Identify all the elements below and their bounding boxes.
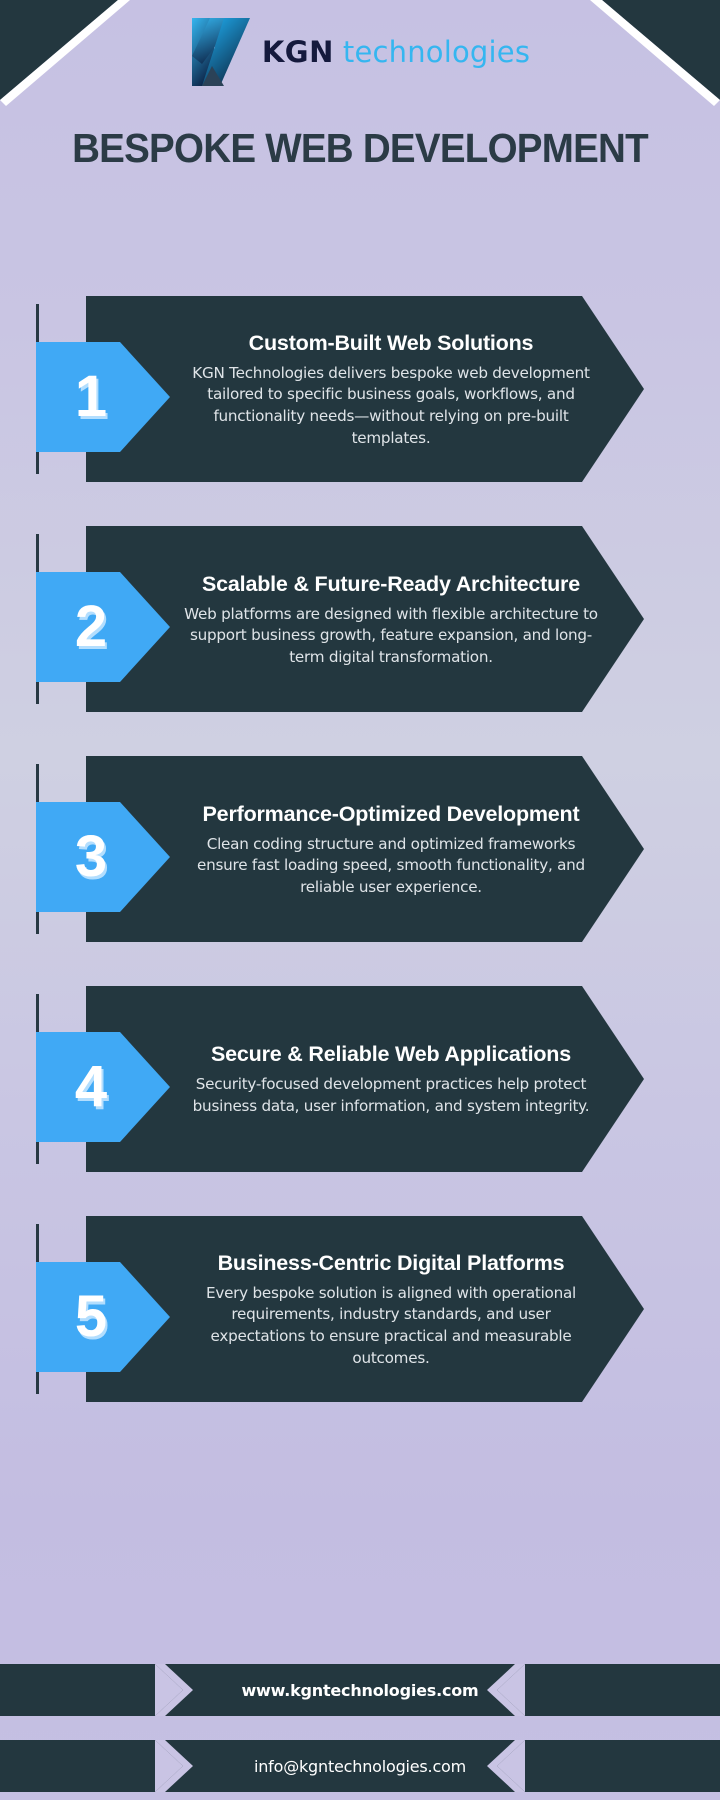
list-item: Secure & Reliable Web Applications Secur… <box>0 986 720 1172</box>
card-title: Secure & Reliable Web Applications <box>211 1042 571 1067</box>
card-number: 2 <box>36 572 146 682</box>
list-item: Scalable & Future-Ready Architecture Web… <box>0 526 720 712</box>
page-title: BESPOKE WEB DEVELOPMENT <box>22 125 699 172</box>
footer: www.kgntechnologies.com info@kgntechnolo… <box>0 1656 720 1800</box>
card-number: 1 <box>36 342 146 452</box>
footer-website[interactable]: www.kgntechnologies.com <box>0 1664 720 1716</box>
brand-name-bold: KGN <box>262 35 334 69</box>
card-title: Performance-Optimized Development <box>203 802 580 827</box>
steps-list: Custom-Built Web Solutions KGN Technolog… <box>0 296 720 1446</box>
card-content: Scalable & Future-Ready Architecture Web… <box>86 526 644 712</box>
card-content: Performance-Optimized Development Clean … <box>86 756 644 942</box>
infographic-page: KGN technologies BESPOKE WEB DEVELOPMENT… <box>0 0 720 1800</box>
card-panel: Custom-Built Web Solutions KGN Technolog… <box>86 296 644 482</box>
card-body: Every bespoke solution is aligned with o… <box>184 1283 598 1369</box>
card-number: 5 <box>36 1262 146 1372</box>
card-panel: Scalable & Future-Ready Architecture Web… <box>86 526 644 712</box>
footer-email[interactable]: info@kgntechnologies.com <box>0 1740 720 1792</box>
card-title: Custom-Built Web Solutions <box>249 331 534 356</box>
card-panel: Secure & Reliable Web Applications Secur… <box>86 986 644 1172</box>
brand-logo: KGN technologies <box>0 12 720 92</box>
card-number: 3 <box>36 802 146 912</box>
card-body: Security-focused development practices h… <box>184 1074 598 1117</box>
list-item: Performance-Optimized Development Clean … <box>0 756 720 942</box>
card-content: Secure & Reliable Web Applications Secur… <box>86 986 644 1172</box>
list-item: Custom-Built Web Solutions KGN Technolog… <box>0 296 720 482</box>
card-title: Scalable & Future-Ready Architecture <box>202 572 580 597</box>
kgn-k-logo-icon <box>190 16 252 88</box>
card-panel: Business-Centric Digital Platforms Every… <box>86 1216 644 1402</box>
card-body: KGN Technologies delivers bespoke web de… <box>184 363 598 449</box>
card-panel: Performance-Optimized Development Clean … <box>86 756 644 942</box>
brand-wordmark: KGN technologies <box>262 35 530 69</box>
list-item: Business-Centric Digital Platforms Every… <box>0 1216 720 1402</box>
card-body: Web platforms are designed with flexible… <box>184 604 598 669</box>
card-content: Custom-Built Web Solutions KGN Technolog… <box>86 296 644 482</box>
card-number: 4 <box>36 1032 146 1142</box>
card-content: Business-Centric Digital Platforms Every… <box>86 1216 644 1402</box>
card-title: Business-Centric Digital Platforms <box>218 1251 565 1276</box>
card-body: Clean coding structure and optimized fra… <box>184 834 598 899</box>
brand-name-light: technologies <box>343 35 530 69</box>
